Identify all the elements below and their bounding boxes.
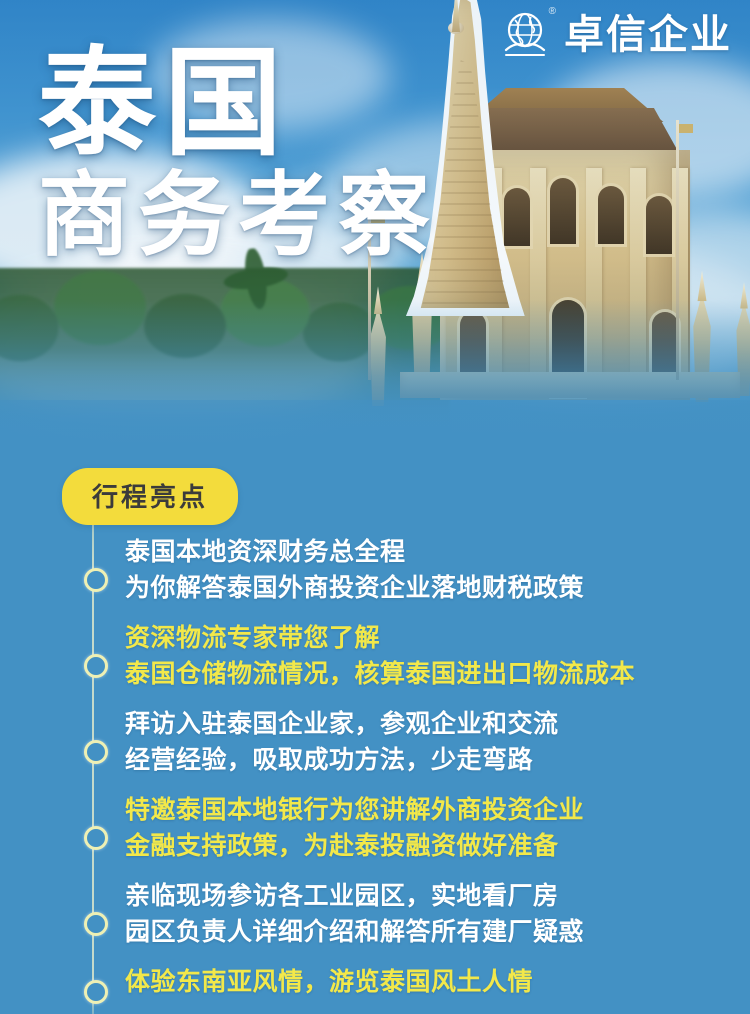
title-line-1: 泰国 [38,44,438,164]
globe-hands-icon: ® [498,8,552,62]
highlights-timeline: 泰国本地资深财务总全程 为你解答泰国外商投资企业落地财税政策 资深物流专家带您了… [0,520,750,1014]
list-item-line2: 金融支持政策，为赴泰投融资做好准备 [125,828,725,864]
poster-root: ® 卓信企业 泰国 商务考察 行程亮点 泰国本地资深财务总全程 为你解答泰国外商… [0,0,750,1014]
timeline-dot [84,740,108,764]
highlights-badge: 行程亮点 [62,468,238,525]
list-item-line1: 拜访入驻泰国企业家，参观企业和交流 [125,706,725,742]
temple-window [646,196,672,254]
list-item-line1: 泰国本地资深财务总全程 [125,534,725,570]
list-item-text: 泰国本地资深财务总全程 为你解答泰国外商投资企业落地财税政策 [125,534,725,606]
list-item-text: 体验东南亚风情，游览泰国风土人情 [125,964,725,1000]
temple-niche [550,178,576,244]
list-item-line2: 经营经验，吸取成功方法，少走弯路 [125,742,725,778]
brand-logo[interactable]: ® 卓信企业 [498,8,732,62]
temple-window [598,186,624,244]
temple-window [504,188,530,246]
timeline-dot [84,654,108,678]
list-item-line1: 资深物流专家带您了解 [125,620,725,656]
list-item-line2: 泰国仓储物流情况，核算泰国进出口物流成本 [125,656,725,692]
page-title: 泰国 商务考察 [38,44,438,268]
timeline-dot [84,568,108,592]
timeline-line [92,520,94,1014]
list-item-line2: 园区负责人详细介绍和解答所有建厂疑惑 [125,914,725,950]
list-item-text: 亲临现场参访各工业园区，实地看厂房 园区负责人详细介绍和解答所有建厂疑惑 [125,878,725,950]
flag [679,124,693,133]
list-item-line1: 亲临现场参访各工业园区，实地看厂房 [125,878,725,914]
title-line-2: 商务考察 [38,166,438,267]
brand-name: 卓信企业 [564,15,732,55]
list-item-line1: 体验东南亚风情，游览泰国风土人情 [125,964,725,1000]
timeline-dot [84,912,108,936]
list-item-text: 资深物流专家带您了解 泰国仓储物流情况，核算泰国进出口物流成本 [125,620,725,692]
photo-fade-overlay-lower [0,400,750,470]
timeline-dot [84,826,108,850]
registered-mark: ® [549,6,556,17]
timeline-dot [84,980,108,1004]
list-item-text: 特邀泰国本地银行为您讲解外商投资企业 金融支持政策，为赴泰投融资做好准备 [125,792,725,864]
list-item-line2: 为你解答泰国外商投资企业落地财税政策 [125,570,725,606]
list-item-text: 拜访入驻泰国企业家，参观企业和交流 经营经验，吸取成功方法，少走弯路 [125,706,725,778]
list-item-line1: 特邀泰国本地银行为您讲解外商投资企业 [125,792,725,828]
